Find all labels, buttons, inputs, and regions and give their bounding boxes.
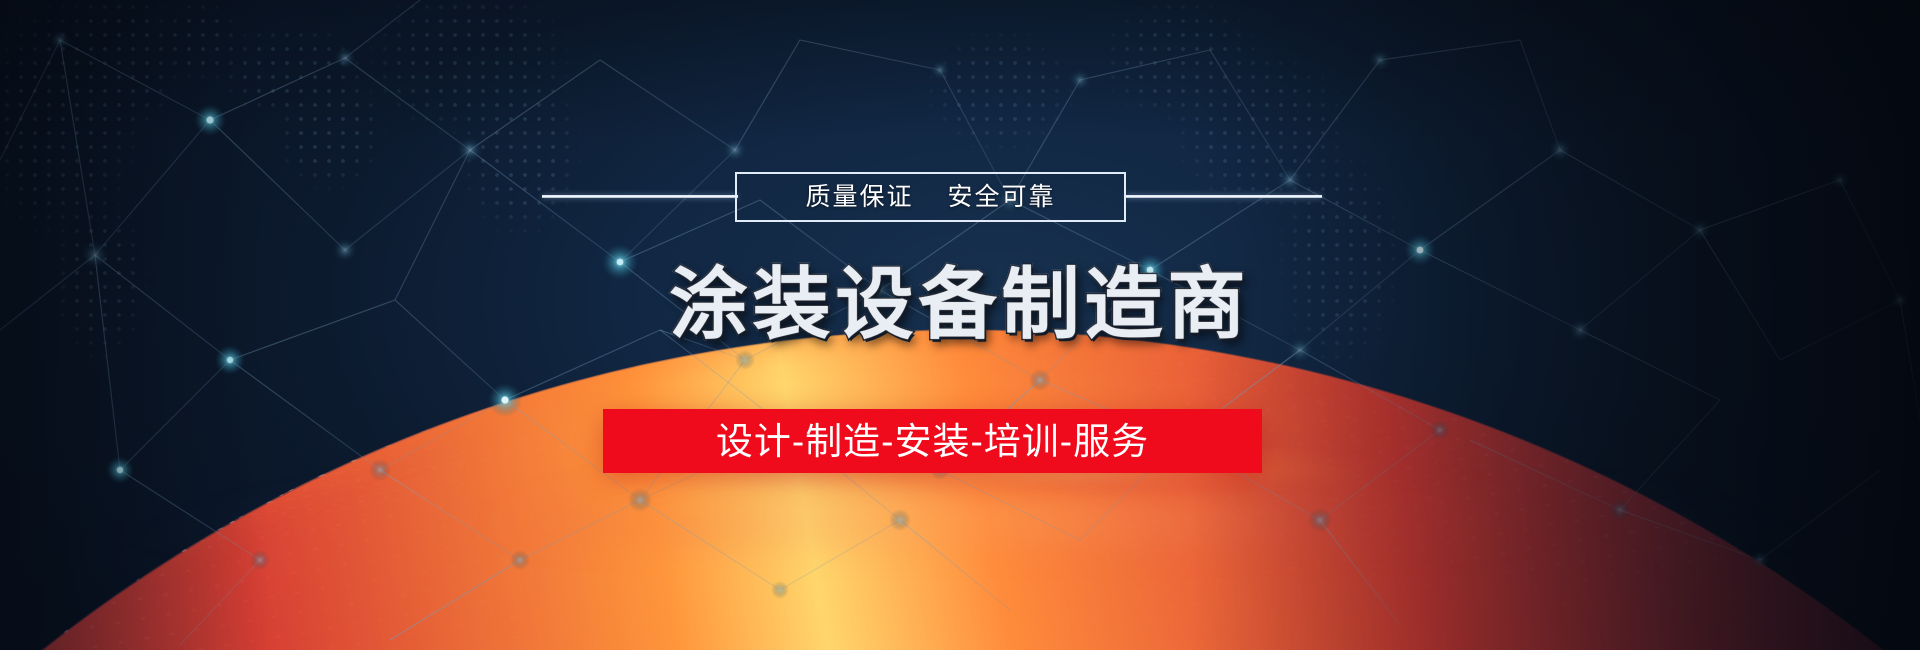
cta-banner-label: 设计-制造-安装-培训-服务 [716,423,1149,460]
cta-banner: 设计-制造-安装-培训-服务 [603,409,1262,473]
eyebrow-item-safety: 安全可靠 [948,185,1056,210]
eyebrow-badge: 质量保证 安全可靠 [735,172,1126,222]
eyebrow-row: 质量保证 安全可靠 [0,172,1920,224]
decorative-rule-left [542,195,738,198]
eyebrow-item-quality: 质量保证 [805,185,913,210]
banner-content: 质量保证 安全可靠 涂装设备制造商 设计-制造-安装-培训-服务 [0,0,1920,650]
page-title: 涂装设备制造商 [0,262,1920,346]
hero-banner: 质量保证 安全可靠 涂装设备制造商 设计-制造-安装-培训-服务 [0,0,1920,650]
decorative-rule-right [1126,195,1322,198]
